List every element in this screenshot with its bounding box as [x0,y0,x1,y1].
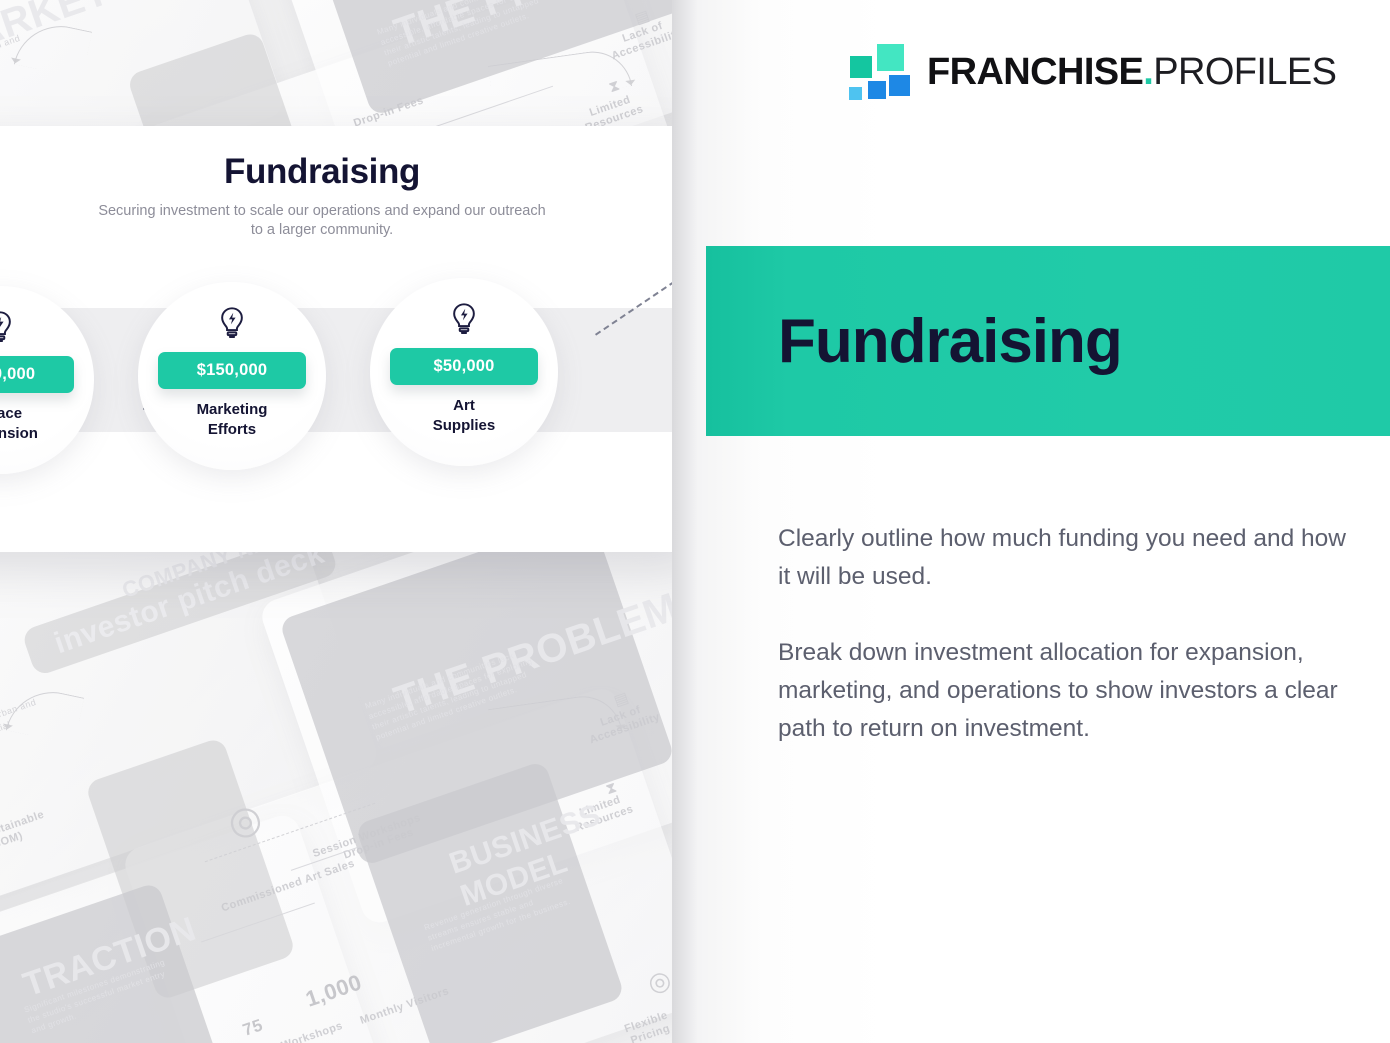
section-banner: Fundraising [706,246,1390,436]
card-title: Fundraising [0,152,644,192]
funding-node-marketing-efforts[interactable]: $150,000 Marketing Efforts [138,282,326,470]
funding-amount: $150,000 [158,352,306,389]
brand-wordmark: FRANCHISE.PROFILES [927,53,1336,91]
funding-label: Marketing Efforts [197,400,268,440]
lightbulb-bolt-icon [449,302,479,336]
brand-lockup: FRANCHISE.PROFILES [848,44,1336,100]
funding-node-space-expansion[interactable]: $150,000 Space Expansion [0,286,94,474]
lightbulb-bolt-icon [217,306,247,340]
connector-outgoing [595,259,672,336]
funding-label: Art Supplies [433,396,496,436]
funding-node-art-supplies[interactable]: $50,000 Art Supplies [370,278,558,466]
funding-amount: $50,000 [390,348,538,385]
card-subtitle: Securing investment to scale our operati… [97,202,547,240]
slide-canvas: MARKET spaces in urban and is substantia… [0,0,1390,1043]
section-body: Clearly outline how much funding you nee… [778,520,1358,748]
card-header: Fundraising Securing investment to scale… [0,126,672,246]
brand-word-bold: FRANCHISE [927,51,1143,93]
brand-dot: . [1143,51,1153,93]
fundraising-card: Fundraising Securing investment to scale… [0,126,672,552]
pitch-deck-background: MARKET spaces in urban and is substantia… [0,0,672,1043]
franchise-profiles-logo-icon [848,44,910,100]
lightbulb-bolt-icon [0,310,15,344]
section-title: Fundraising [778,306,1122,377]
body-paragraph-1: Clearly outline how much funding you nee… [778,520,1358,596]
content-panel: FRANCHISE.PROFILES Fundraising Clearly o… [672,0,1390,1043]
brand-word-light: PROFILES [1153,51,1336,93]
body-paragraph-2: Break down investment allocation for exp… [778,634,1358,748]
funding-label: Space Expansion [0,404,38,444]
funding-amount: $150,000 [0,356,74,393]
funding-node-row: $150,000 Space Expansion $150,000 Market… [0,276,672,476]
